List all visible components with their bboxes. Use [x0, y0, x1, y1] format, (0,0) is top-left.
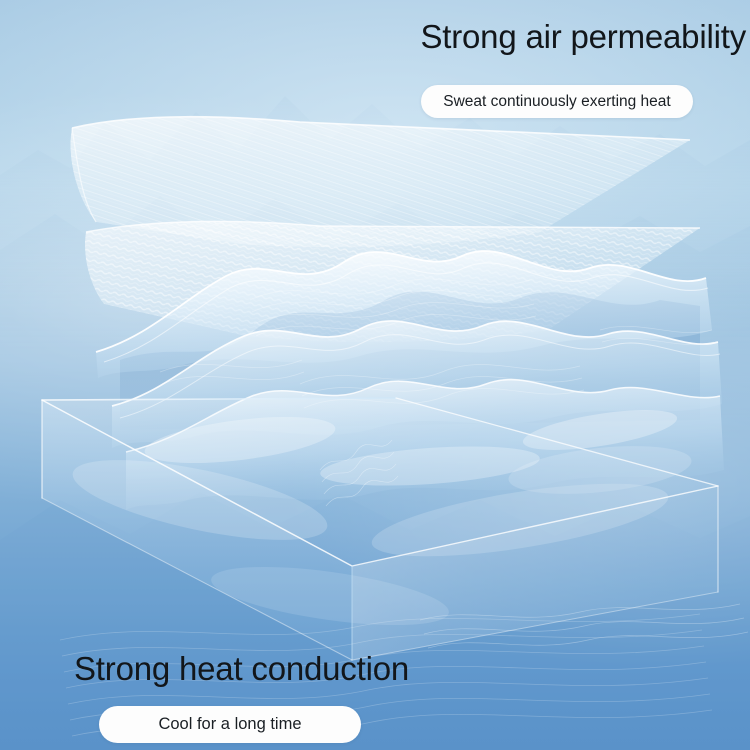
page-title-top: Strong air permeability	[420, 20, 746, 53]
page-title-bottom: Strong heat conduction	[74, 652, 409, 685]
feature-badge-bottom: Cool for a long time	[99, 706, 361, 743]
feature-badge-top: Sweat continuously exerting heat	[421, 85, 693, 118]
product-feature-graphic: Strong air permeability Sweat continuous…	[0, 0, 750, 750]
feature-badge-top-label: Sweat continuously exerting heat	[443, 93, 670, 111]
feature-badge-bottom-label: Cool for a long time	[158, 715, 301, 734]
